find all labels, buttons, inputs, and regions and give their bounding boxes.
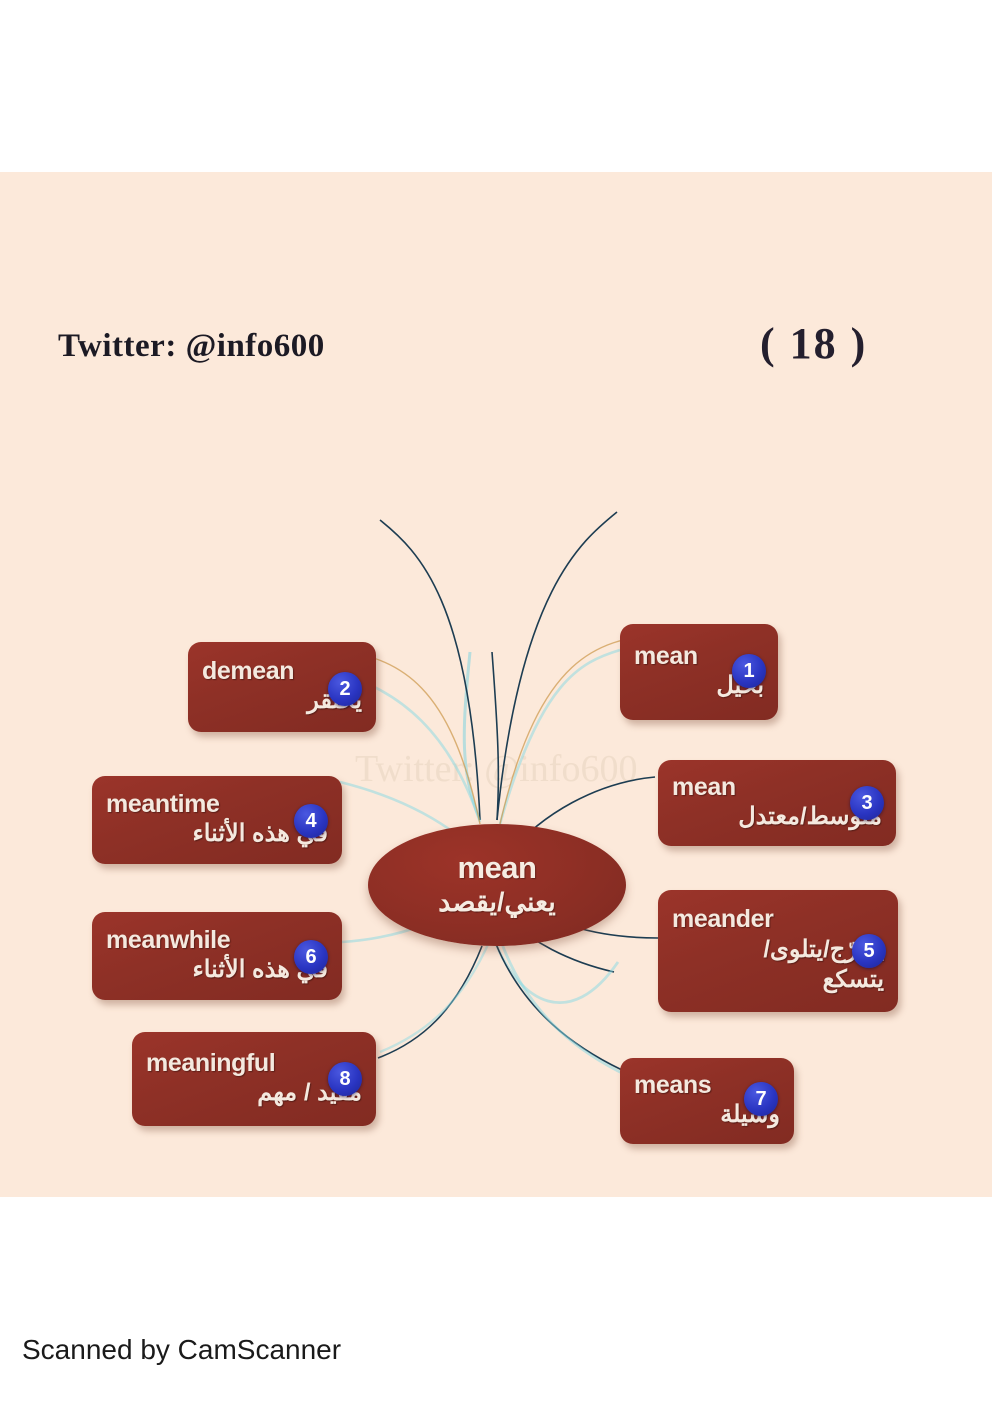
node-meantime[interactable]: meantime في هذه الأثناء 4 [92, 776, 342, 864]
node-number-badge: 6 [294, 940, 328, 974]
center-node-english: mean [458, 852, 537, 885]
node-number-badge: 8 [328, 1062, 362, 1096]
node-meaningful[interactable]: meaningful مفيد / مهم 8 [132, 1032, 376, 1126]
node-number-badge: 1 [732, 654, 766, 688]
node-mean-average[interactable]: mean متوسط/معتدل 3 [658, 760, 896, 846]
center-node-arabic: يعني/يقصد [438, 886, 555, 918]
node-arabic-line2: يتسكع [672, 966, 884, 994]
node-means[interactable]: means وسيلة 7 [620, 1058, 794, 1144]
center-node[interactable]: mean يعني/يقصد [368, 824, 626, 946]
node-mean-stingy[interactable]: mean بخيل 1 [620, 624, 778, 720]
node-english: meander [672, 906, 884, 934]
node-meanwhile[interactable]: meanwhile في هذه الأثناء 6 [92, 912, 342, 1000]
node-number-badge: 3 [850, 786, 884, 820]
camscanner-footer: Scanned by CamScanner [22, 1334, 341, 1366]
node-meander[interactable]: meander يتعرّج/يتلوى/ يتسكع 5 [658, 890, 898, 1012]
node-number-badge: 7 [744, 1082, 778, 1116]
node-number-badge: 2 [328, 672, 362, 706]
node-number-badge: 5 [852, 934, 886, 968]
node-number-badge: 4 [294, 804, 328, 838]
node-demean[interactable]: demean يحتقر 2 [188, 642, 376, 732]
mindmap-diagram: Twitter: @info600 mean يعني/يقصد [0, 172, 992, 1197]
